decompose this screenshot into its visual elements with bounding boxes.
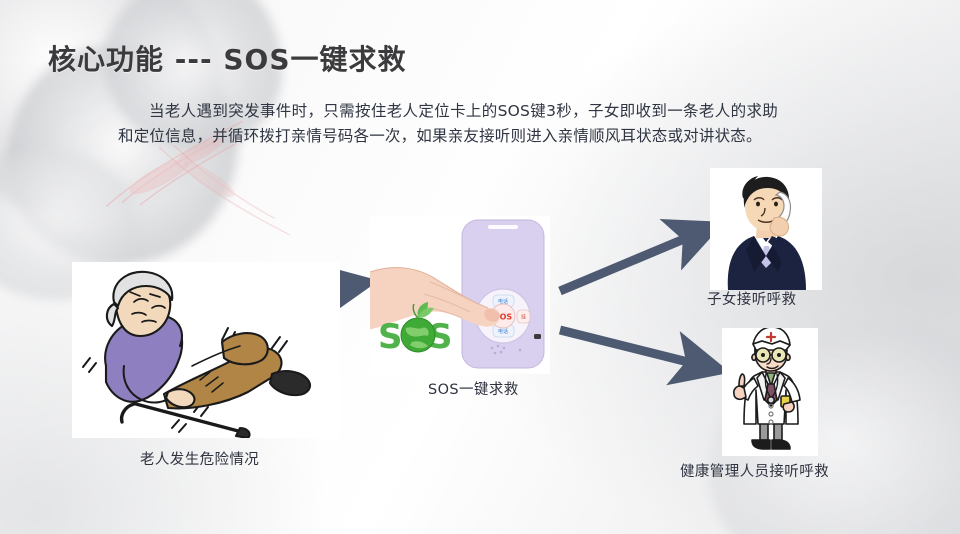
figure-device: SOS 电话 电话 接 挂 S S (370, 216, 550, 374)
svg-text:挂: 挂 (521, 314, 526, 321)
sos-locator-device-photo-icon: SOS 电话 电话 接 挂 S S (370, 216, 550, 374)
man-on-phone-illustration-icon (710, 168, 822, 290)
fallen-elderly-illustration-icon (72, 262, 340, 438)
slide-canvas: 核心功能 --- SOS一键求救 当老人遇到突发事件时，只需按住老人定位卡上的S… (0, 0, 960, 534)
arrow-device-to-doctor (560, 330, 700, 365)
doctor-illustration-icon (722, 328, 818, 456)
svg-text:电话: 电话 (498, 328, 508, 335)
figure-son (710, 168, 822, 290)
arrow-device-to-son (560, 234, 696, 291)
caption-device: SOS一键求救 (428, 378, 519, 399)
figure-elderly (72, 262, 340, 438)
page-title: 核心功能 --- SOS一键求救 (48, 38, 407, 78)
body-paragraph: 当老人遇到突发事件时，只需按住老人定位卡上的SOS键3秒，子女即收到一条老人的求… (118, 99, 778, 149)
caption-doctor: 健康管理人员接听呼救 (680, 460, 829, 481)
svg-text:S: S (378, 317, 403, 357)
figure-doctor (722, 328, 818, 456)
caption-son: 子女接听呼救 (707, 288, 796, 309)
caption-elderly: 老人发生危险情况 (140, 448, 259, 469)
svg-text:电话: 电话 (498, 298, 508, 305)
ink-wash-bloom-icon (6, 46, 238, 264)
